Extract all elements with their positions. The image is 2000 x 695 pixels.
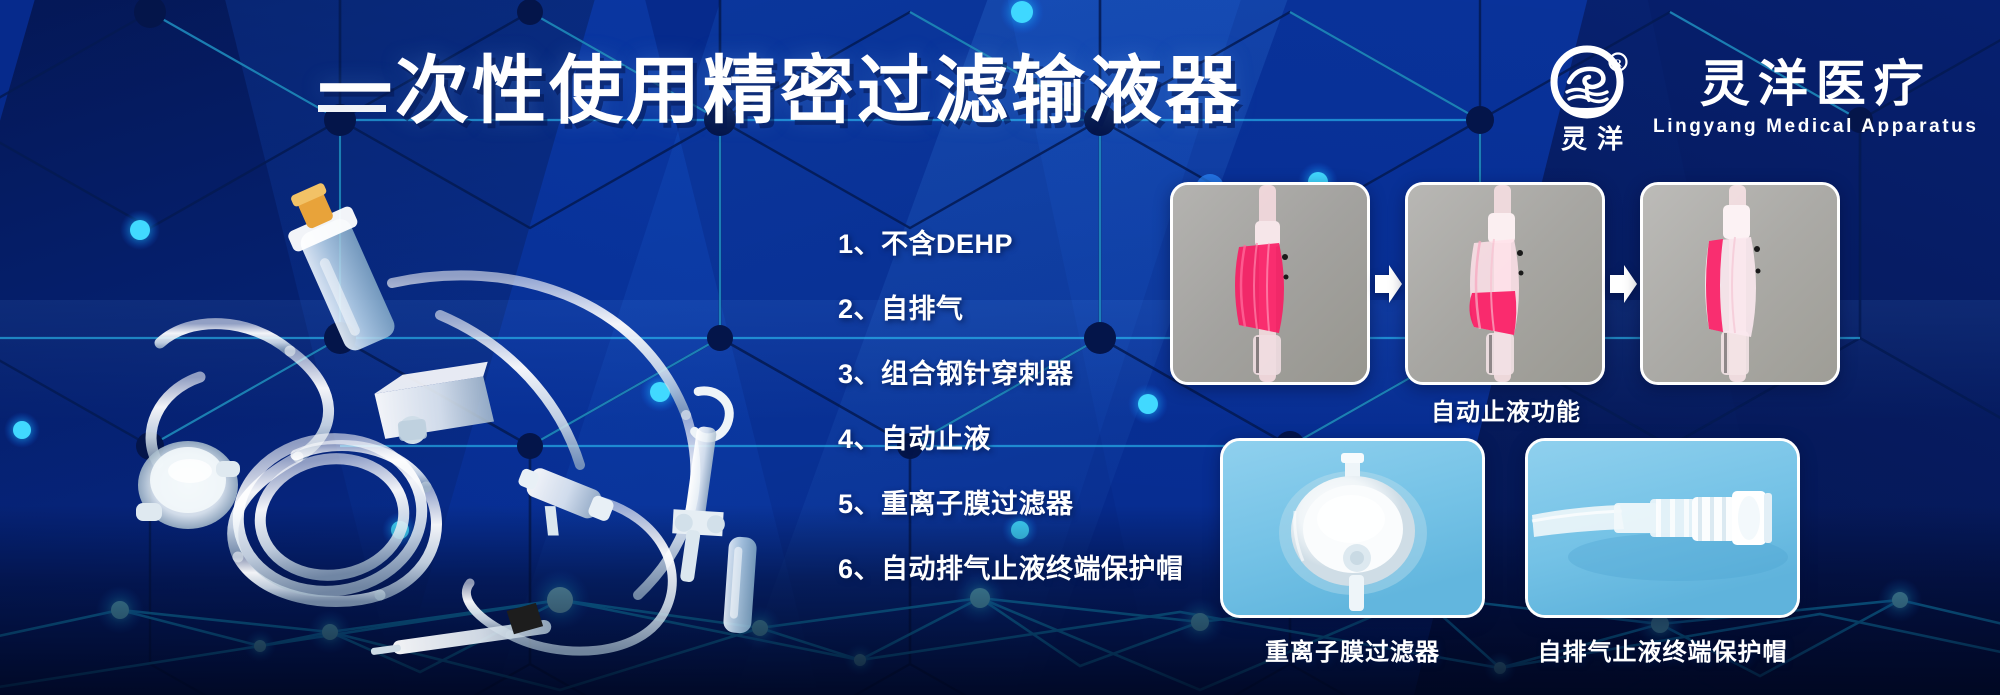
detail-panel-caption: 自排气止液终端保护帽 <box>1525 632 1800 667</box>
lingyang-emblem-icon: R 灵 洋 <box>1545 42 1637 154</box>
demo-frame-3 <box>1640 182 1840 385</box>
feature-item: 5、重离子膜过滤器 <box>838 472 1258 537</box>
detail-panel-caption: 重离子膜过滤器 <box>1220 632 1485 667</box>
product-banner: 一次性使用精密过滤输液器 R 灵 洋 灵洋医疗 Lingyang Medical… <box>0 0 2000 695</box>
svg-text:R: R <box>1614 58 1623 70</box>
page-title: 一次性使用精密过滤输液器 <box>318 52 1242 130</box>
demo-frame-2 <box>1405 182 1605 385</box>
product-photo <box>40 165 800 665</box>
feature-item: 6、自动排气止液终端保护帽 <box>838 537 1258 602</box>
auto-stop-demo-sequence <box>1170 182 1840 385</box>
brand-wordmark: 灵洋医疗 Lingyang Medical Apparatus <box>1653 58 1979 138</box>
arrow-right-icon <box>1605 263 1640 305</box>
detail-panel-cap <box>1525 438 1800 618</box>
emblem-sub-right: 洋 <box>1597 124 1623 154</box>
demo-sequence-caption: 自动止液功能 <box>1170 392 1842 427</box>
arrow-right-icon <box>1370 263 1405 305</box>
company-name-cn: 灵洋医疗 <box>1700 58 1932 111</box>
detail-panel-filter <box>1220 438 1485 618</box>
brand-logo: R 灵 洋 灵洋医疗 Lingyang Medical Apparatus <box>1545 42 1979 154</box>
emblem-sub-left: 灵 <box>1561 124 1587 154</box>
demo-frame-1 <box>1170 182 1370 385</box>
company-name-en: Lingyang Medical Apparatus <box>1653 116 1979 138</box>
